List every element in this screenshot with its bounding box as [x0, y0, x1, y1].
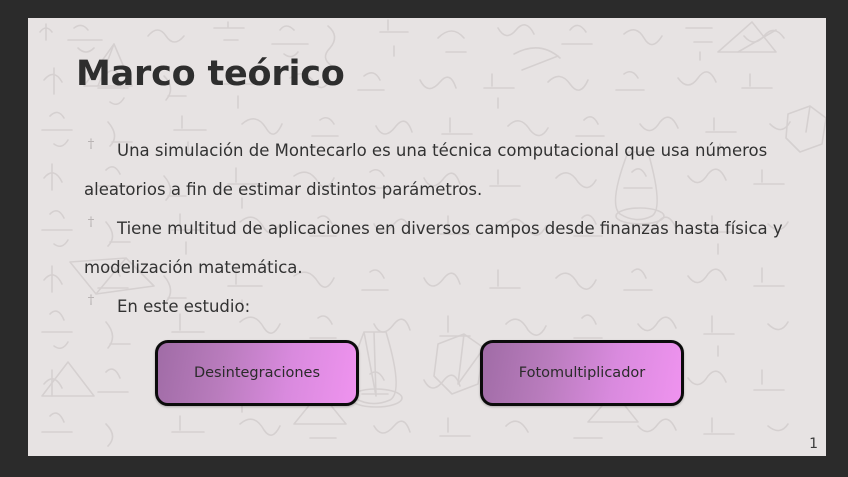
page-title: Marco teórico — [76, 54, 345, 94]
fotomultiplicador-button[interactable]: Fotomultiplicador — [480, 340, 684, 406]
dagger-bullet-icon: † — [84, 132, 98, 158]
presentation-viewer: Marco teórico † Una simulación de Montec… — [0, 0, 848, 477]
dagger-bullet-icon: † — [84, 288, 98, 314]
button-label: Desintegraciones — [194, 365, 320, 381]
desintegraciones-button[interactable]: Desintegraciones — [155, 340, 359, 406]
list-item-text: Tiene multitud de aplicaciones en divers… — [84, 219, 783, 277]
list-item-text: En este estudio: — [117, 297, 250, 316]
button-label: Fotomultiplicador — [519, 365, 645, 381]
slide: Marco teórico † Una simulación de Montec… — [28, 18, 826, 456]
slide-content: Marco teórico † Una simulación de Montec… — [28, 18, 826, 456]
page-number: 1 — [809, 436, 818, 452]
list-item: † Una simulación de Montecarlo es una té… — [84, 131, 784, 209]
dagger-bullet-icon: † — [84, 210, 98, 236]
list-item-text: Una simulación de Montecarlo es una técn… — [84, 141, 767, 199]
list-item: † En este estudio: — [84, 287, 784, 326]
bullet-list: † Una simulación de Montecarlo es una té… — [84, 131, 784, 326]
list-item: † Tiene multitud de aplicaciones en dive… — [84, 209, 784, 287]
